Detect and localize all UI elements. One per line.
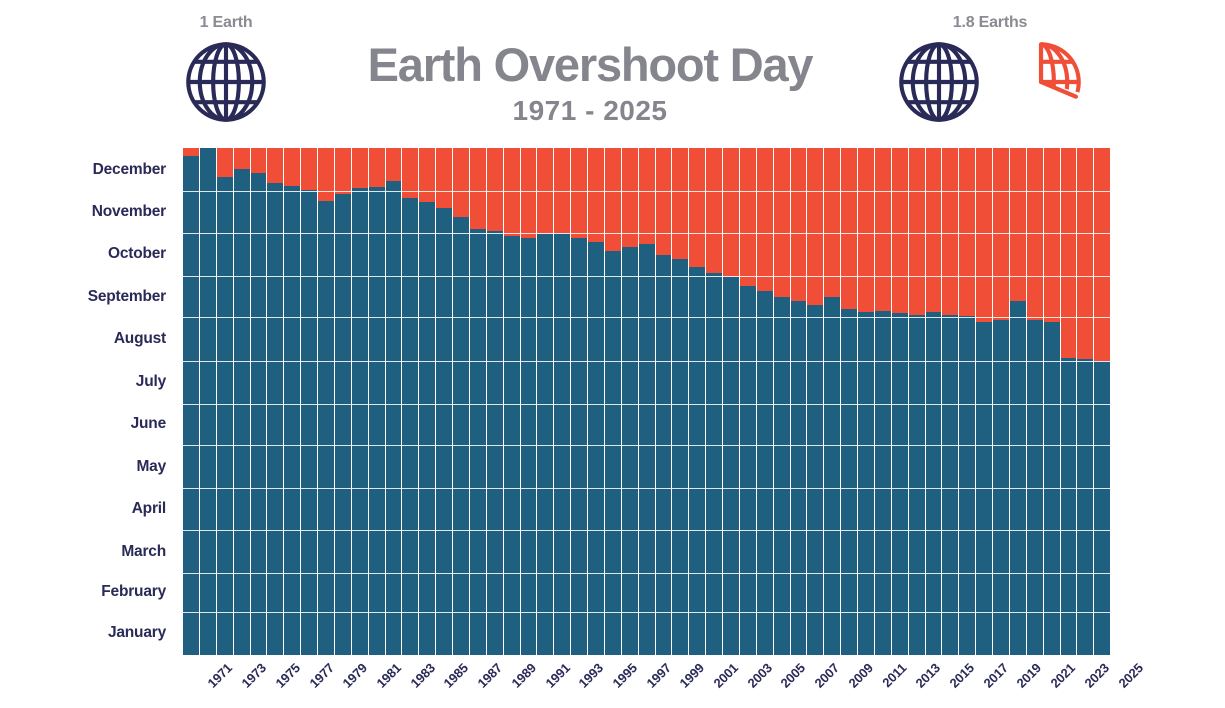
y-axis-label-october: October [0,246,175,262]
bar-column [402,148,419,655]
right-globe-group: 1.8 Earths [880,14,1100,133]
bar-column [284,148,301,655]
page-title: Earth Overshoot Day [300,38,880,92]
x-axis-label-1975: 1975 [273,661,303,691]
bar-segment-within-budget [251,173,267,655]
earth-overshoot-day-infographic: 1 Earth [0,0,1225,708]
bar-column [774,148,791,655]
bar-segment-within-budget [656,255,672,655]
x-axis-label-2007: 2007 [812,661,842,691]
bar-segment-within-budget [335,194,351,655]
bar-segment-within-budget [234,169,250,655]
y-axis-label-june: June [0,416,175,432]
bar-column [926,148,943,655]
y-axis-label-may: May [0,459,175,475]
x-axis-label-1985: 1985 [442,661,472,691]
bar-column [554,148,571,655]
bar-segment-within-budget [183,156,199,655]
bar-column [504,148,521,655]
bar-column [571,148,588,655]
bar-column [892,148,909,655]
bar-column [605,148,622,655]
y-axis-label-july: July [0,374,175,390]
bar-column [706,148,723,655]
bar-column [521,148,538,655]
x-axis-label-1979: 1979 [340,661,370,691]
bar-segment-within-budget [926,312,942,655]
bar-column [267,148,284,655]
bar-segment-within-budget [757,291,773,655]
y-axis-label-september: September [0,289,175,305]
bar-column [1027,148,1044,655]
bar-segment-within-budget [605,251,621,655]
bar-segment-within-budget [875,311,891,655]
bar-column [723,148,740,655]
bar-segment-within-budget [909,315,925,655]
bar-column [318,148,335,655]
bar-segment-within-budget [487,231,503,655]
bar-column [301,148,318,655]
bar-segment-within-budget [976,322,992,655]
bar-column [959,148,976,655]
bar-column [335,148,352,655]
bar-segment-within-budget [301,190,317,655]
bar-segment-within-budget [892,313,908,655]
y-axis: JanuaryFebruaryMarchAprilMayJuneJulyAugu… [0,148,175,655]
bar-segment-within-budget [1044,322,1060,655]
bar-segment-within-budget [588,242,604,655]
bar-column [858,148,875,655]
left-globe-caption: 1 Earth [176,14,276,32]
bar-column [217,148,234,655]
bar-segment-within-budget [419,202,435,655]
bar-column [841,148,858,655]
bar-column [791,148,808,655]
left-globe-group: 1 Earth [176,14,276,133]
bar-column [942,148,959,655]
bar-segment-within-budget [217,177,233,655]
bar-column [1010,148,1027,655]
bar-segment-within-budget [1061,358,1077,655]
bar-column [672,148,689,655]
bar-segment-within-budget [723,277,739,655]
bar-segment-within-budget [672,259,688,655]
bar-column [588,148,605,655]
bar-column [200,148,217,655]
bar-column [1077,148,1094,655]
bar-segment-within-budget [402,198,418,655]
bar-column [352,148,369,655]
bar-segment-within-budget [1027,320,1043,655]
x-axis-label-1987: 1987 [475,661,505,691]
x-axis-label-2019: 2019 [1015,661,1045,691]
bar-column [656,148,673,655]
globe-partial-icon [995,36,1087,133]
x-axis-label-1983: 1983 [408,661,438,691]
right-globe-caption: 1.8 Earths [880,14,1100,32]
y-axis-label-april: April [0,501,175,517]
x-axis-label-1977: 1977 [307,661,337,691]
bar-segment-within-budget [352,188,368,655]
bar-column [436,148,453,655]
bar-segment-within-budget [386,181,402,655]
x-axis-label-1991: 1991 [543,661,573,691]
bar-column [807,148,824,655]
bar-segment-within-budget [521,238,537,655]
bar-column [183,148,200,655]
x-axis-label-2021: 2021 [1048,661,1078,691]
bar-segment-within-budget [993,320,1009,655]
bar-column [234,148,251,655]
y-axis-label-december: December [0,162,175,178]
x-axis-label-1997: 1997 [644,661,674,691]
bar-column [251,148,268,655]
bar-column [993,148,1010,655]
bar-series [183,148,1110,655]
y-axis-label-february: February [0,584,175,600]
bar-segment-within-budget [200,148,216,655]
x-axis-label-1995: 1995 [610,661,640,691]
x-axis-label-2023: 2023 [1082,661,1112,691]
bar-segment-within-budget [504,236,520,655]
page-subtitle: 1971 - 2025 [300,94,880,128]
bar-segment-within-budget [740,286,756,655]
bar-segment-within-budget [1077,359,1093,655]
bar-column [1044,148,1061,655]
bar-segment-within-budget [706,273,722,655]
bar-segment-within-budget [841,309,857,655]
bar-column [386,148,403,655]
bar-segment-within-budget [1094,361,1110,655]
bar-segment-within-budget [436,208,452,655]
bar-column [875,148,892,655]
bar-segment-within-budget [959,316,975,655]
globe-icon [893,36,985,133]
y-axis-label-march: March [0,544,175,560]
title-block: Earth Overshoot Day 1971 - 2025 [300,38,880,128]
bar-segment-within-budget [622,247,638,655]
bar-column [453,148,470,655]
bar-column [369,148,386,655]
bar-segment-within-budget [689,267,705,655]
bar-segment-within-budget [807,305,823,655]
header: 1 Earth [0,0,1225,148]
x-axis-label-1999: 1999 [678,661,708,691]
bar-segment-within-budget [453,217,469,655]
x-axis-label-2015: 2015 [947,661,977,691]
x-axis-label-2005: 2005 [779,661,809,691]
x-axis-label-1989: 1989 [509,661,539,691]
x-axis-label-2013: 2013 [914,661,944,691]
bar-column [487,148,504,655]
bar-column [537,148,554,655]
bar-column [419,148,436,655]
bar-column [622,148,639,655]
bar-segment-within-budget [791,301,807,655]
bar-segment-within-budget [318,201,334,655]
y-axis-label-january: January [0,625,175,641]
bar-segment-within-budget [369,187,385,655]
x-axis-label-2009: 2009 [846,661,876,691]
bar-column [470,148,487,655]
y-axis-label-august: August [0,331,175,347]
x-axis-label-2025: 2025 [1116,661,1146,691]
bar-column [757,148,774,655]
bar-column [639,148,656,655]
globe-icon [180,36,272,133]
bar-column [740,148,757,655]
left-globe-row [176,36,276,133]
x-axis-label-1973: 1973 [239,661,269,691]
bar-segment-within-budget [470,229,486,655]
bar-segment-within-budget [858,312,874,655]
bar-segment-within-budget [774,297,790,655]
x-axis-label-2001: 2001 [711,661,741,691]
x-axis-label-1971: 1971 [206,661,236,691]
bar-segment-within-budget [824,297,840,655]
bar-column [976,148,993,655]
right-globe-row [880,36,1100,133]
x-axis-label-2017: 2017 [981,661,1011,691]
y-axis-label-november: November [0,204,175,220]
chart-plot-area [183,148,1110,655]
bar-segment-within-budget [1010,301,1026,655]
bar-segment-within-budget [554,233,570,655]
bar-column [1061,148,1078,655]
x-axis-label-1993: 1993 [576,661,606,691]
bar-segment-within-budget [942,315,958,655]
bar-segment-within-budget [639,244,655,655]
x-axis: 1971197319751977197919811983198519871989… [183,655,1110,708]
bar-column [689,148,706,655]
x-axis-label-2011: 2011 [880,661,909,690]
bar-segment-within-budget [537,234,553,655]
bar-segment-within-budget [571,238,587,655]
bar-column [909,148,926,655]
bar-segment-within-budget [267,183,283,655]
bar-column [824,148,841,655]
x-axis-label-2003: 2003 [745,661,775,691]
x-axis-label-1981: 1981 [374,661,404,691]
bar-segment-within-budget [284,186,300,655]
bar-column [1094,148,1110,655]
